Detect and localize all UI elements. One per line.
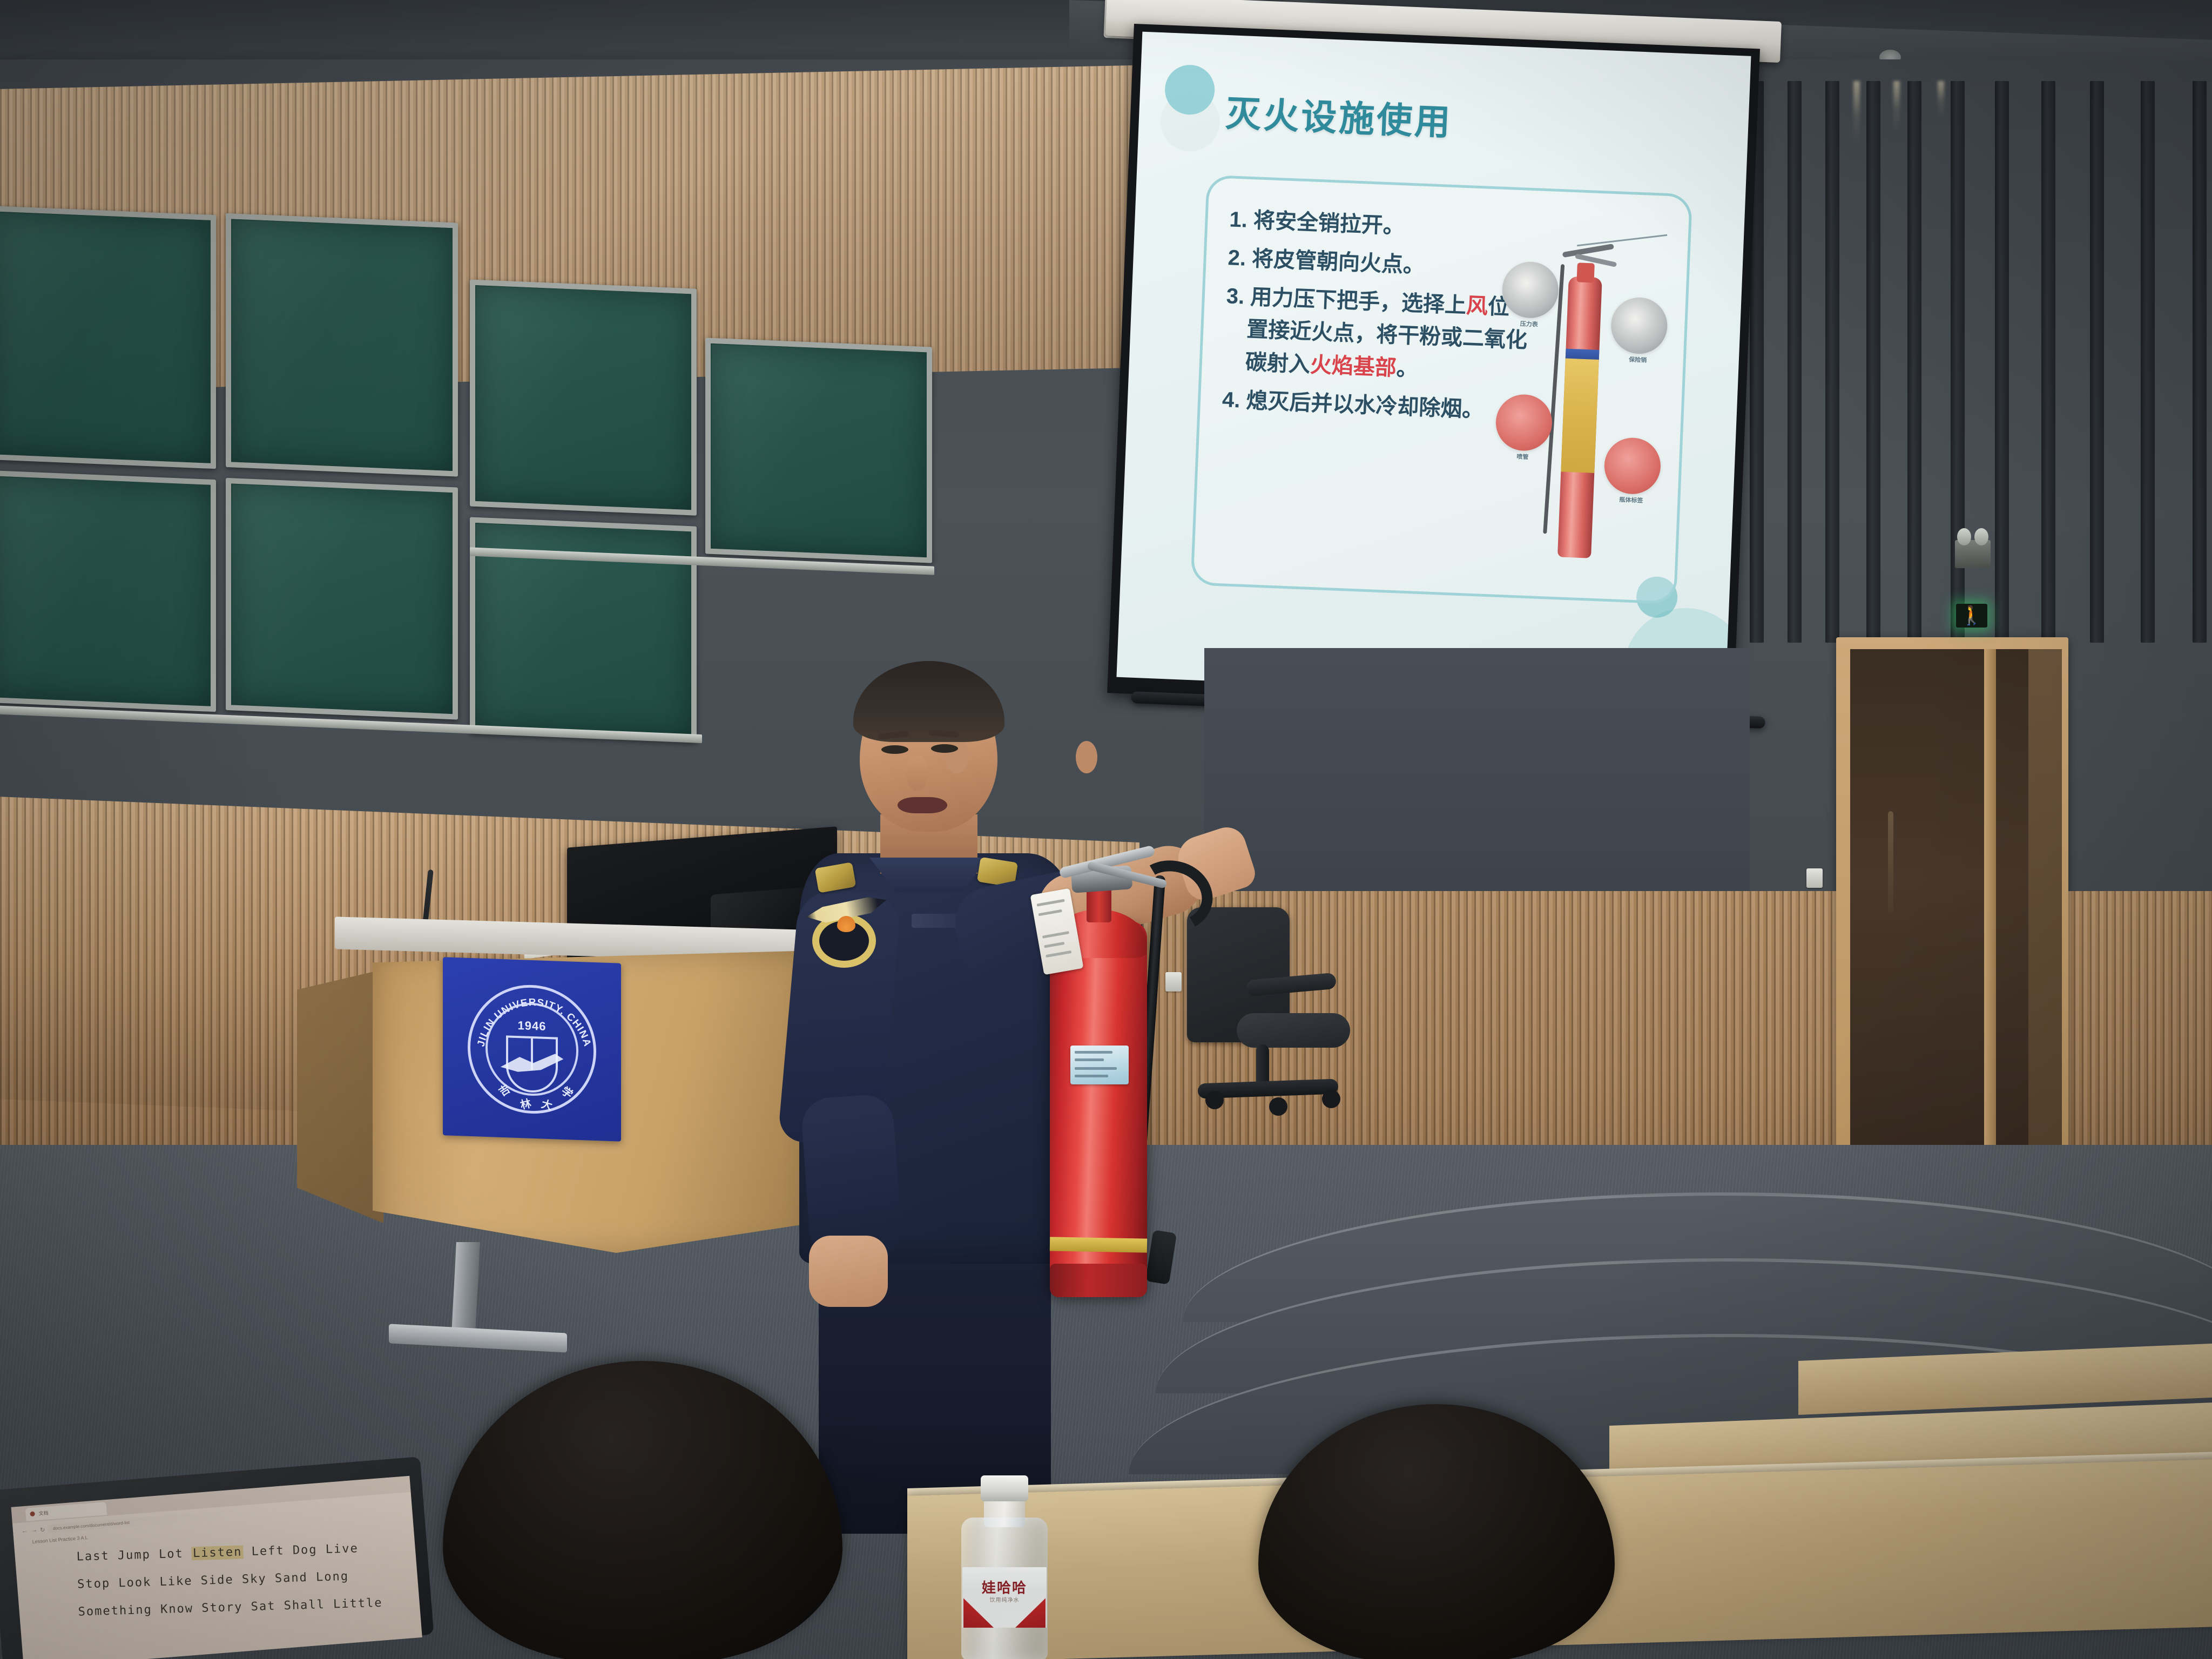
reload-icon[interactable]: ↻ [40,1526,45,1534]
slide-step-3: 3. 用力压下把手，选择上风位置接近火点，将干粉或二氧化碳射入火焰基部。 [1223,280,1529,390]
diagram-caption: 保险销 [1607,356,1668,366]
bottle-brand: 娃哈哈 [962,1577,1047,1597]
projected-slide: 灭火设施使用 1. 将安全销拉开。 2. 将皮管朝向火点。 3. 用力压下把手，… [1116,32,1751,702]
chair-caster [1269,1097,1287,1116]
emergency-light [1955,540,1991,568]
extinguisher-strap [1050,1237,1147,1252]
lectern: JILIN UNIVERSITY. CHINA 1946 吉 林 大 学 [373,950,815,1285]
diagram-handle [1562,244,1614,258]
document-line: Stop Look Like Side Sky Sand Long [77,1568,412,1591]
step3-prefix: 3. 用力压下把手，选择上 [1226,284,1467,318]
chalkboard-panel [226,478,458,720]
bottle-subtitle: 饮用纯净水 [962,1595,1047,1603]
presenter-mouth [898,797,947,813]
extinguisher-inspection-tag [1030,888,1084,975]
water-bottle[interactable]: 娃哈哈 饮用纯净水 [956,1474,1053,1659]
step3-highlight-flame-base: 火焰基部 [1310,353,1397,380]
slide-step-4: 4. 熄灭后并以水冷却除烟。 [1222,383,1525,428]
presenter-hair [853,661,1004,742]
office-chair[interactable] [1177,907,1355,1156]
projection-screen: 灭火设施使用 1. 将安全销拉开。 2. 将皮管朝向火点。 3. 用力压下把手，… [1107,24,1760,718]
crest-char: 学 [559,1082,577,1101]
slide-step-1: 1. 将安全销拉开。 [1229,203,1532,248]
document-line: Last Jump Lot Listen Left Dog Live [76,1540,411,1563]
extinguisher-diagram: 压力表 保险销 喷管 瓶体标签 [1493,232,1668,584]
diagram-caption: 喷管 [1492,453,1553,462]
slide-title: 灭火设施使用 [1225,85,1454,146]
chalkboard-panel [226,213,458,477]
door-leaf-edge [1984,649,1996,1226]
document-body: Last Jump Lot Listen Left Dog Live Stop … [76,1540,413,1633]
university-crest: JILIN UNIVERSITY. CHINA 1946 吉 林 大 学 [468,983,596,1116]
presenter-left-hand [809,1236,888,1307]
diagram-caption: 瓶体标签 [1601,496,1661,505]
university-crest-plate: JILIN UNIVERSITY. CHINA 1946 吉 林 大 学 [443,957,621,1142]
doorway-frame [1836,637,2068,1226]
diagram-callout-circle [1501,261,1560,319]
chalkboard-panel [0,470,216,712]
fire-rescue-badge-icon [806,892,892,973]
line1-before: Last Jump Lot [76,1547,192,1563]
chair-caster [1205,1091,1224,1109]
presenter-nose [906,756,928,791]
chalkboard-panel [470,279,697,515]
crest-chinese-name: 吉 林 大 学 [470,986,599,1118]
bottle-label: 娃哈哈 饮用纯净水 [962,1567,1047,1628]
door-handle[interactable] [1888,811,1893,914]
browser-url: docs.example.com/document/d/word-list [53,1520,130,1531]
document-line: Something Know Story Sat Shall Little [78,1595,413,1618]
door-side-panel [2028,649,2062,1226]
chair-caster [1322,1090,1340,1108]
crest-char: 大 [540,1095,554,1113]
chalkboard-panel [705,338,932,563]
slide-step-2: 2. 将皮管朝向火点。 [1228,241,1531,286]
slide-step-list: 1. 将安全销拉开。 2. 将皮管朝向火点。 3. 用力压下把手，选择上风位置接… [1222,203,1533,434]
diagram-callout-circle [1495,394,1553,452]
diagram-label-band [1561,359,1599,473]
presenter-eye [931,744,958,753]
chalkboard-panel [0,206,216,469]
extinguisher-base [1050,1264,1147,1297]
wall-socket[interactable] [1806,868,1823,888]
browser-tab-title: 文档 [38,1509,49,1517]
browser-bookmarks-bar[interactable]: Lesson List Practice 3 A L [32,1535,88,1545]
line1-after: Left Dog Live [243,1542,359,1559]
running-man-icon: 🚶 [1960,606,1983,625]
wall-panel-behind-screen [1204,648,1750,907]
forward-icon[interactable]: → [31,1527,38,1534]
slide-content-card: 1. 将安全销拉开。 2. 将皮管朝向火点。 3. 用力压下把手，选择上风位置接… [1190,175,1692,605]
diagram-callout-circle [1603,437,1662,495]
lectern-side-panel [297,969,383,1223]
bottle-cap[interactable] [981,1475,1028,1501]
presenter-eye [881,745,908,754]
browser-tab[interactable] [25,1502,107,1521]
line1-highlight: Listen [192,1545,244,1560]
laptop-screen[interactable]: 文档 ← → ↻ docs.example.com/document/d/wor… [11,1476,422,1659]
lecture-hall-photo: 灭火设施使用 1. 将安全销拉开。 2. 将皮管朝向火点。 3. 用力压下把手，… [0,0,2212,1659]
diagram-neck [1576,262,1594,282]
fire-extinguisher[interactable] [1026,853,1188,1301]
crest-char: 吉 [495,1080,513,1099]
step3-suffix: 。 [1396,356,1419,381]
chair-seat [1237,1013,1350,1048]
crest-char: 林 [518,1095,532,1112]
back-icon[interactable]: ← [22,1528,28,1535]
diagram-callout-circle [1610,296,1668,355]
laptop[interactable]: 文档 ← → ↻ docs.example.com/document/d/wor… [0,1456,434,1659]
extinguisher-nozzle[interactable] [1145,1230,1177,1285]
extinguisher-label [1070,1046,1129,1084]
door-panel[interactable] [1850,649,2028,1226]
exit-sign: 🚶 [1956,604,1987,628]
step3-highlight-wind: 风 [1466,294,1488,319]
diagram-caption: 压力表 [1499,320,1559,330]
